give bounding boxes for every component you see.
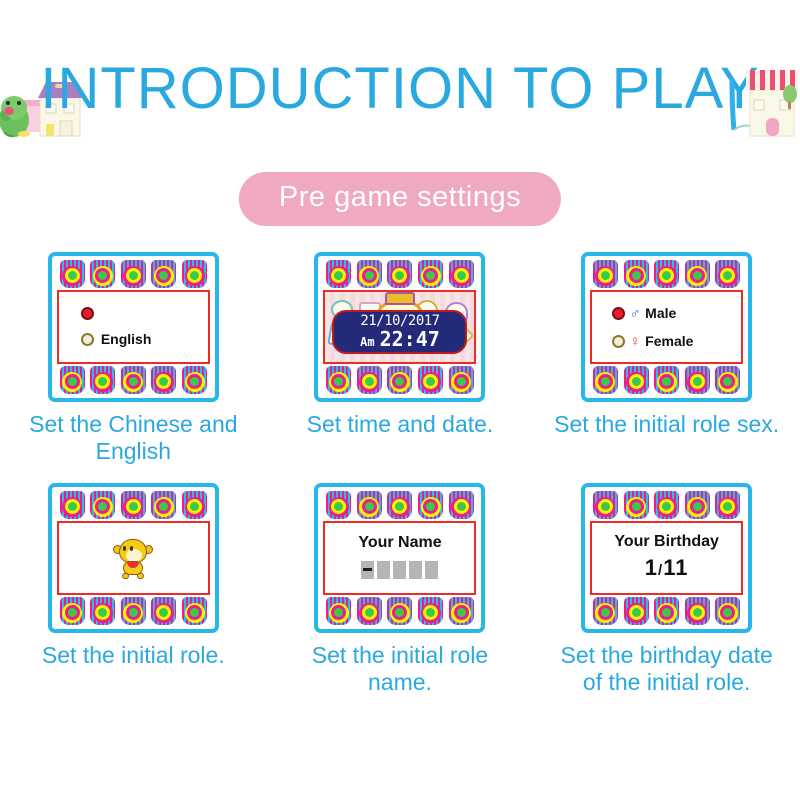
device-button-icon[interactable] <box>357 597 382 625</box>
device-button-icon[interactable] <box>449 597 474 625</box>
card-caption: Set the Chinese and English <box>21 411 246 465</box>
birthday-day: 11 <box>663 555 688 580</box>
device-button-row-bottom <box>55 596 212 626</box>
device-button-row-top <box>321 259 478 289</box>
device-screen-clock: 21/10/2017 Am 22:47 <box>323 290 476 364</box>
device-screen-language: English <box>57 290 210 364</box>
device-button-icon[interactable] <box>90 366 115 394</box>
device-button-icon[interactable] <box>715 366 740 394</box>
name-slot[interactable] <box>377 561 390 579</box>
device-button-icon[interactable] <box>357 260 382 288</box>
device-button-icon[interactable] <box>357 491 382 519</box>
device-button-row-top <box>55 259 212 289</box>
lcd-display: 21/10/2017 Am 22:47 <box>332 310 467 354</box>
device-button-icon[interactable] <box>121 491 146 519</box>
language-option-list: English <box>59 307 208 347</box>
card-language: English Set the Chinese and English <box>0 252 267 465</box>
name-slot[interactable] <box>409 561 422 579</box>
device-button-row-bottom <box>55 365 212 395</box>
card-caption: Set the initial role. <box>21 642 246 669</box>
card-caption: Set the birthday date of the initial rol… <box>554 642 779 696</box>
handheld-device[interactable] <box>48 483 219 633</box>
device-button-icon[interactable] <box>685 366 710 394</box>
monkey-leg <box>137 573 144 579</box>
device-screen-birthday: Your Birthday 1/11 <box>590 521 743 595</box>
device-button-icon[interactable] <box>121 366 146 394</box>
device-button-icon[interactable] <box>60 366 85 394</box>
clock-character-bell <box>385 292 415 305</box>
device-button-icon[interactable] <box>151 491 176 519</box>
card-name: Your Name Set the initial rol <box>267 483 534 696</box>
device-screen-name: Your Name <box>323 521 476 595</box>
device-button-icon[interactable] <box>151 597 176 625</box>
device-button-icon[interactable] <box>654 491 679 519</box>
device-button-icon[interactable] <box>60 597 85 625</box>
monkey-leg <box>122 573 129 579</box>
device-button-icon[interactable] <box>418 366 443 394</box>
language-option-label: English <box>101 331 152 347</box>
birthday-month: 1 <box>645 555 658 580</box>
card-caption: Set the initial role name. <box>287 642 512 696</box>
device-button-icon[interactable] <box>685 260 710 288</box>
section-banner: Pre game settings <box>239 172 561 226</box>
sex-option-list: ♂ Male ♀ Female <box>592 305 741 350</box>
device-button-icon[interactable] <box>387 366 412 394</box>
sex-option-male[interactable]: ♂ Male <box>612 305 741 322</box>
device-button-icon[interactable] <box>121 597 146 625</box>
radio-selected-icon[interactable] <box>612 307 625 320</box>
device-button-row-top <box>588 490 745 520</box>
device-button-icon[interactable] <box>357 366 382 394</box>
device-button-icon[interactable] <box>418 491 443 519</box>
device-button-icon[interactable] <box>326 491 351 519</box>
device-button-row-bottom <box>321 596 478 626</box>
device-button-icon[interactable] <box>654 597 679 625</box>
device-button-row-bottom <box>588 596 745 626</box>
device-button-icon[interactable] <box>624 366 649 394</box>
device-button-icon[interactable] <box>593 260 618 288</box>
device-button-row-top <box>588 259 745 289</box>
page-title: INTRODUCTION TO PLAY <box>0 58 800 120</box>
male-symbol-icon: ♂ <box>628 305 642 322</box>
device-button-icon[interactable] <box>715 260 740 288</box>
monkey-character-icon <box>113 537 153 579</box>
device-button-icon[interactable] <box>685 491 710 519</box>
device-button-icon[interactable] <box>326 366 351 394</box>
name-slot[interactable] <box>361 561 374 579</box>
decoration-right-house <box>728 48 800 140</box>
device-button-row-bottom <box>588 365 745 395</box>
handheld-device[interactable]: English <box>48 252 219 402</box>
card-sex: ♂ Male ♀ Female Set the initial ro <box>533 252 800 465</box>
device-button-icon[interactable] <box>418 597 443 625</box>
device-button-icon[interactable] <box>387 597 412 625</box>
device-button-icon[interactable] <box>418 260 443 288</box>
device-button-icon[interactable] <box>624 260 649 288</box>
device-button-icon[interactable] <box>449 260 474 288</box>
device-button-icon[interactable] <box>654 366 679 394</box>
radio-selected-icon[interactable] <box>81 307 94 320</box>
device-button-icon[interactable] <box>90 597 115 625</box>
sex-option-label: Male <box>645 305 676 321</box>
female-symbol-icon: ♀ <box>628 333 642 350</box>
device-button-icon[interactable] <box>90 260 115 288</box>
device-screen-character <box>57 521 210 595</box>
lcd-clock-time: 22:47 <box>380 329 440 349</box>
radio-unselected-icon[interactable] <box>81 333 94 346</box>
device-button-icon[interactable] <box>624 597 649 625</box>
clock-wallpaper: 21/10/2017 Am 22:47 <box>325 292 474 362</box>
device-button-icon[interactable] <box>60 491 85 519</box>
device-button-row-top <box>55 490 212 520</box>
device-button-icon[interactable] <box>449 366 474 394</box>
device-button-icon[interactable] <box>449 491 474 519</box>
device-button-icon[interactable] <box>151 366 176 394</box>
name-slot[interactable] <box>425 561 438 579</box>
device-button-icon[interactable] <box>654 260 679 288</box>
device-button-row-bottom <box>321 365 478 395</box>
device-button-icon[interactable] <box>624 491 649 519</box>
device-button-icon[interactable] <box>182 260 207 288</box>
device-button-icon[interactable] <box>182 491 207 519</box>
device-grid: English Set the Chinese and English <box>0 252 800 696</box>
radio-unselected-icon[interactable] <box>612 335 625 348</box>
device-button-icon[interactable] <box>715 597 740 625</box>
device-button-icon[interactable] <box>593 491 618 519</box>
device-button-icon[interactable] <box>326 260 351 288</box>
device-button-icon[interactable] <box>182 366 207 394</box>
handheld-device[interactable]: 21/10/2017 Am 22:47 <box>314 252 485 402</box>
card-birthday: Your Birthday 1/11 Set the birthday date… <box>533 483 800 696</box>
handheld-device[interactable]: Your Name <box>314 483 485 633</box>
card-character: Set the initial role. <box>0 483 267 696</box>
name-slot[interactable] <box>393 561 406 579</box>
sex-option-female[interactable]: ♀ Female <box>612 333 741 350</box>
lcd-ampm: Am <box>360 332 374 352</box>
device-screen-sex: ♂ Male ♀ Female <box>590 290 743 364</box>
card-caption: Set time and date. <box>287 411 512 438</box>
handheld-device[interactable]: Your Birthday 1/11 <box>581 483 752 633</box>
device-button-icon[interactable] <box>593 597 618 625</box>
birthday-label: Your Birthday <box>614 533 719 551</box>
language-option-english[interactable]: English <box>81 331 208 347</box>
birthday-group: Your Birthday 1/11 <box>614 533 719 581</box>
page-header: INTRODUCTION TO PLAY <box>0 0 800 150</box>
device-button-icon[interactable] <box>685 597 710 625</box>
card-caption: Set the initial role sex. <box>554 411 779 438</box>
device-button-icon[interactable] <box>387 491 412 519</box>
device-button-icon[interactable] <box>715 491 740 519</box>
name-entry-label: Your Name <box>358 534 441 552</box>
language-option-chinese[interactable] <box>81 307 208 320</box>
device-button-row-top <box>321 490 478 520</box>
name-entry-group: Your Name <box>358 534 441 579</box>
card-clock: 21/10/2017 Am 22:47 Set time and date. <box>267 252 534 465</box>
sex-option-label: Female <box>645 333 693 349</box>
birthday-value[interactable]: 1/11 <box>645 555 689 581</box>
device-button-icon[interactable] <box>182 597 207 625</box>
device-button-icon[interactable] <box>151 260 176 288</box>
lcd-time-row: Am 22:47 <box>360 329 440 352</box>
device-button-icon[interactable] <box>121 260 146 288</box>
device-button-icon[interactable] <box>60 260 85 288</box>
device-button-icon[interactable] <box>90 491 115 519</box>
device-button-icon[interactable] <box>387 260 412 288</box>
handheld-device[interactable]: ♂ Male ♀ Female <box>581 252 752 402</box>
device-button-icon[interactable] <box>593 366 618 394</box>
device-button-icon[interactable] <box>326 597 351 625</box>
name-entry-slots[interactable] <box>361 561 438 579</box>
monkey-head <box>119 539 147 563</box>
